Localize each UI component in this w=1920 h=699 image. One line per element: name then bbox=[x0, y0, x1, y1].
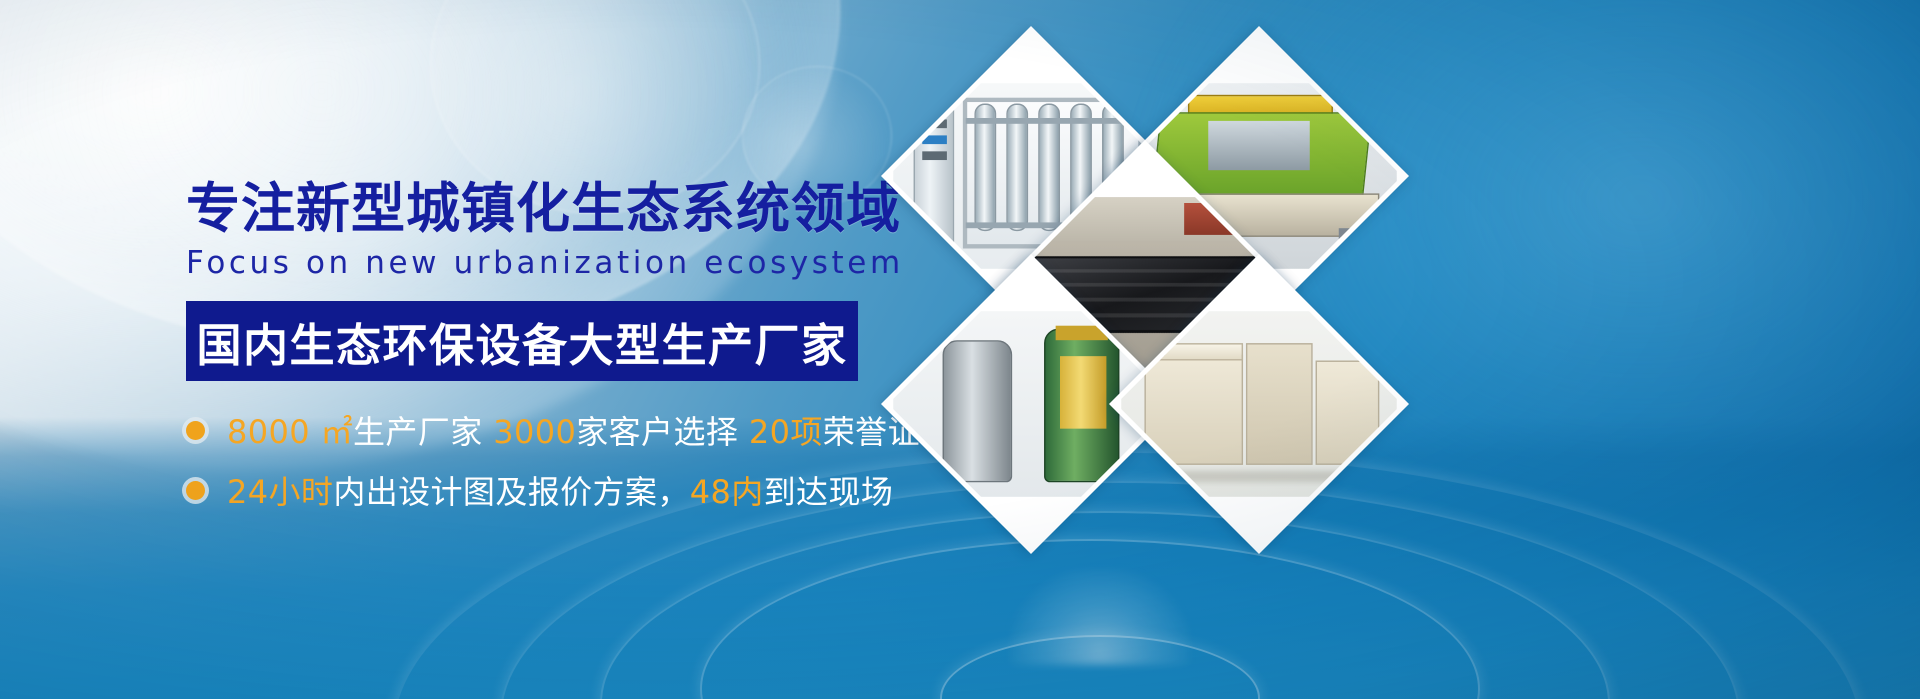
page-title: 专注新型城镇化生态系统领域 bbox=[186, 180, 946, 237]
product-diamond-gallery bbox=[905, 40, 1325, 480]
feature-1-metric-clients: 3000 bbox=[493, 413, 576, 451]
tagline-ribbon: 国内生态环保设备大型生产厂家 bbox=[186, 301, 858, 381]
feature-list: 8000 ㎡生产厂家 3000家客户选择 20项荣誉证书 24小时内出设计图及报… bbox=[186, 407, 946, 513]
hero-banner: 专注新型城镇化生态系统领域 Focus on new urbanization … bbox=[0, 0, 1920, 699]
list-item: 8000 ㎡生产厂家 3000家客户选择 20项荣誉证书 bbox=[186, 407, 946, 453]
feature-1-unit-certs: 项 bbox=[790, 413, 822, 451]
feature-text-2: 24小时内出设计图及报价方案，48内到达现场 bbox=[227, 467, 893, 513]
feature-1-label-factory: 生产厂家 bbox=[353, 413, 493, 451]
water-splash-highlight bbox=[1010, 569, 1190, 665]
feature-1-metric-area: 8000 bbox=[227, 413, 321, 451]
feature-2-label-design: 内出设计图及报价方案， bbox=[333, 473, 689, 511]
tagline-text: 国内生态环保设备大型生产厂家 bbox=[196, 309, 847, 374]
feature-1-unit: ㎡ bbox=[321, 413, 353, 451]
page-subtitle: Focus on new urbanization ecosystem bbox=[186, 245, 946, 281]
bullet-dot-icon bbox=[186, 481, 205, 500]
feature-2-metric-onsite: 48内 bbox=[690, 473, 764, 511]
bullet-dot-icon bbox=[186, 421, 205, 440]
feature-1-label-clients: 家客户选择 bbox=[576, 413, 749, 451]
feature-text-1: 8000 ㎡生产厂家 3000家客户选择 20项荣誉证书 bbox=[227, 407, 952, 453]
banner-copy-block: 专注新型城镇化生态系统领域 Focus on new urbanization … bbox=[186, 180, 946, 527]
feature-2-label-onsite: 到达现场 bbox=[764, 473, 894, 511]
feature-1-metric-certs: 20 bbox=[749, 413, 791, 451]
list-item: 24小时内出设计图及报价方案，48内到达现场 bbox=[186, 467, 946, 513]
feature-2-metric-hours: 24小时 bbox=[227, 473, 333, 511]
